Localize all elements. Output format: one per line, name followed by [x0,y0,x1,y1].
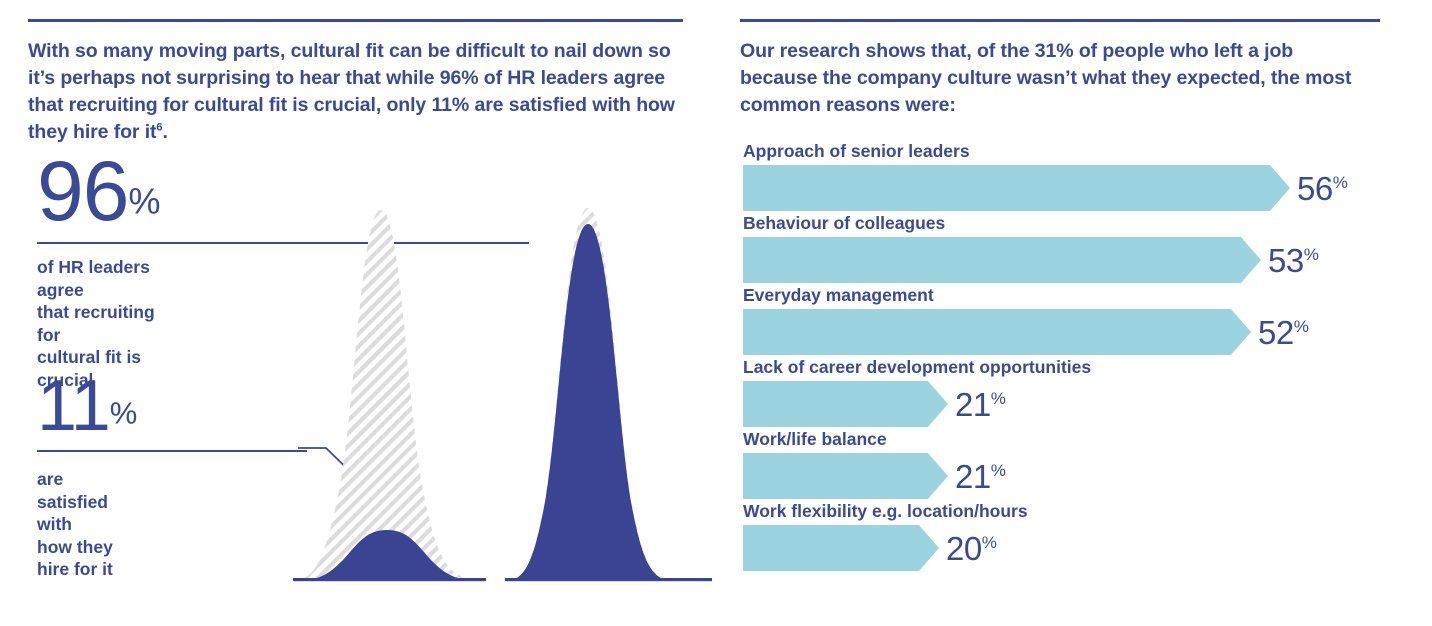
bar-value-percent: % [991,461,1006,480]
bar-value: 56% [1297,172,1347,205]
bar-row: Approach of senior leaders 56% [743,140,1393,211]
bar-shape [743,237,1261,283]
bar-value-percent: % [982,533,997,552]
bar-shape [743,381,948,427]
right-curve-fill-96 [506,224,673,581]
reasons-bar-chart: Approach of senior leaders 56% Behaviour… [743,140,1393,572]
stat-96-number-wrap: 96% [37,152,160,232]
stat-11-percent-sign: % [110,396,137,431]
bar-value-percent: % [1304,245,1319,264]
bar-track: 56% [743,165,1393,211]
bar-shape [743,453,948,499]
bar-value: 21% [955,388,1005,421]
bar-value: 20% [946,532,996,565]
bar-row: Work/life balance 21% [743,428,1393,499]
bar-label: Lack of career development opportunities [743,356,1393,379]
infographic-page: With so many moving parts, cultural fit … [0,0,1432,626]
bar-label: Everyday management [743,284,1393,307]
left-curve-baseline [293,578,486,581]
stat-block-96: 96% of HR leaders agree that recruiting … [37,152,160,232]
bar-track: 53% [743,237,1393,283]
bar-track: 21% [743,381,1393,427]
bar-value-percent: % [1333,173,1348,192]
bar-value: 53% [1268,244,1318,277]
bar-row: Lack of career development opportunities… [743,356,1393,427]
bell-curve-chart [283,190,723,590]
stat-11-divider [37,450,307,452]
left-column-top-rule [28,19,683,22]
bar-value-number: 56 [1297,170,1333,207]
right-column-top-rule [740,19,1380,22]
bar-label: Work flexibility e.g. location/hours [743,500,1393,523]
stat-11-number-wrap: 11% [37,372,137,440]
right-column: Our research shows that, of the 31% of p… [740,0,1400,626]
bar-label: Approach of senior leaders [743,140,1393,163]
bar-row: Work flexibility e.g. location/hours 20% [743,500,1393,571]
right-intro-paragraph: Our research shows that, of the 31% of p… [740,38,1360,119]
bar-value-number: 21 [955,458,991,495]
bar-value: 52% [1258,316,1308,349]
bar-shape [743,309,1251,355]
right-curve-baseline [505,578,712,581]
bar-value-percent: % [1294,317,1309,336]
left-intro-text: With so many moving parts, cultural fit … [28,40,675,143]
bar-shape [743,525,939,571]
bar-track: 20% [743,525,1393,571]
curve-baselines [293,578,712,581]
bar-shape [743,165,1290,211]
left-column: With so many moving parts, cultural fit … [28,0,698,626]
bar-value-percent: % [991,389,1006,408]
bar-track: 52% [743,309,1393,355]
stat-11-number: 11 [37,372,110,440]
bar-value-number: 21 [955,386,991,423]
bar-track: 21% [743,453,1393,499]
bar-value-number: 20 [946,530,982,567]
bar-row: Everyday management 52% [743,284,1393,355]
bar-row: Behaviour of colleagues 53% [743,212,1393,283]
stat-11-caption: are satisfied with how they hire for it [37,468,137,581]
bar-value-number: 53 [1268,242,1304,279]
bar-value-number: 52 [1258,314,1294,351]
bar-value: 21% [955,460,1005,493]
stat-96-number: 96 [37,152,128,232]
bar-label: Behaviour of colleagues [743,212,1393,235]
stat-block-11: 11% are satisfied with how they hire for… [37,372,137,440]
left-curve-outline [295,210,479,580]
left-intro-footnote-suffix: . [162,121,167,143]
left-intro-paragraph: With so many moving parts, cultural fit … [28,38,688,146]
stat-96-percent-sign: % [128,181,160,222]
bar-label: Work/life balance [743,428,1393,451]
